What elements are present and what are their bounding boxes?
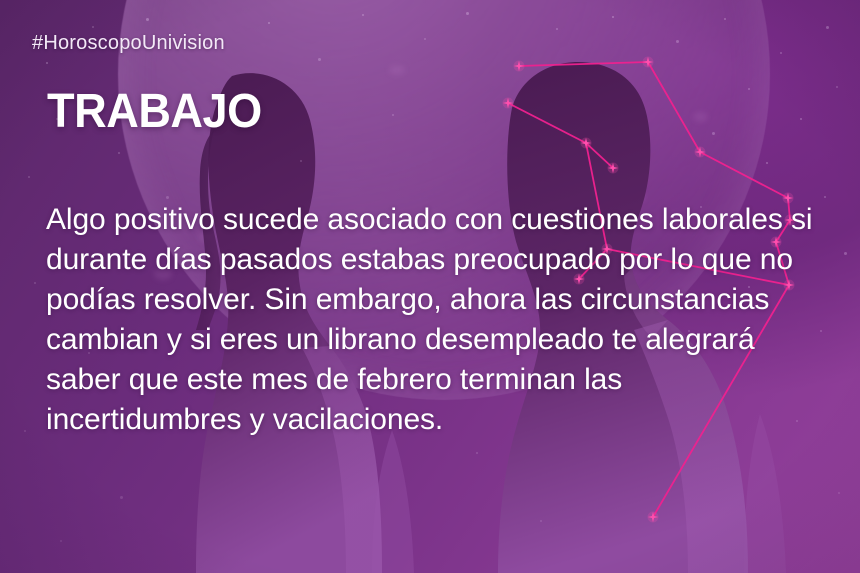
constellation-line [519, 62, 648, 66]
horoscope-body-text: Algo positivo sucede asociado con cuesti… [46, 200, 818, 440]
constellation-star [608, 163, 619, 174]
constellation-star [643, 57, 654, 68]
constellation-star [581, 138, 592, 149]
constellation-line [648, 62, 700, 152]
horoscope-card: #HoroscopoUnivision TRABAJO Algo positiv… [0, 0, 860, 573]
hashtag-label: #HoroscopoUnivision [32, 32, 225, 55]
constellation-star [514, 61, 525, 72]
constellation-line [508, 103, 586, 143]
constellation-star [503, 98, 514, 109]
constellation-star [695, 147, 706, 158]
constellation-line [700, 152, 788, 198]
constellation-star [648, 512, 659, 523]
page-title: TRABAJO [47, 88, 262, 136]
